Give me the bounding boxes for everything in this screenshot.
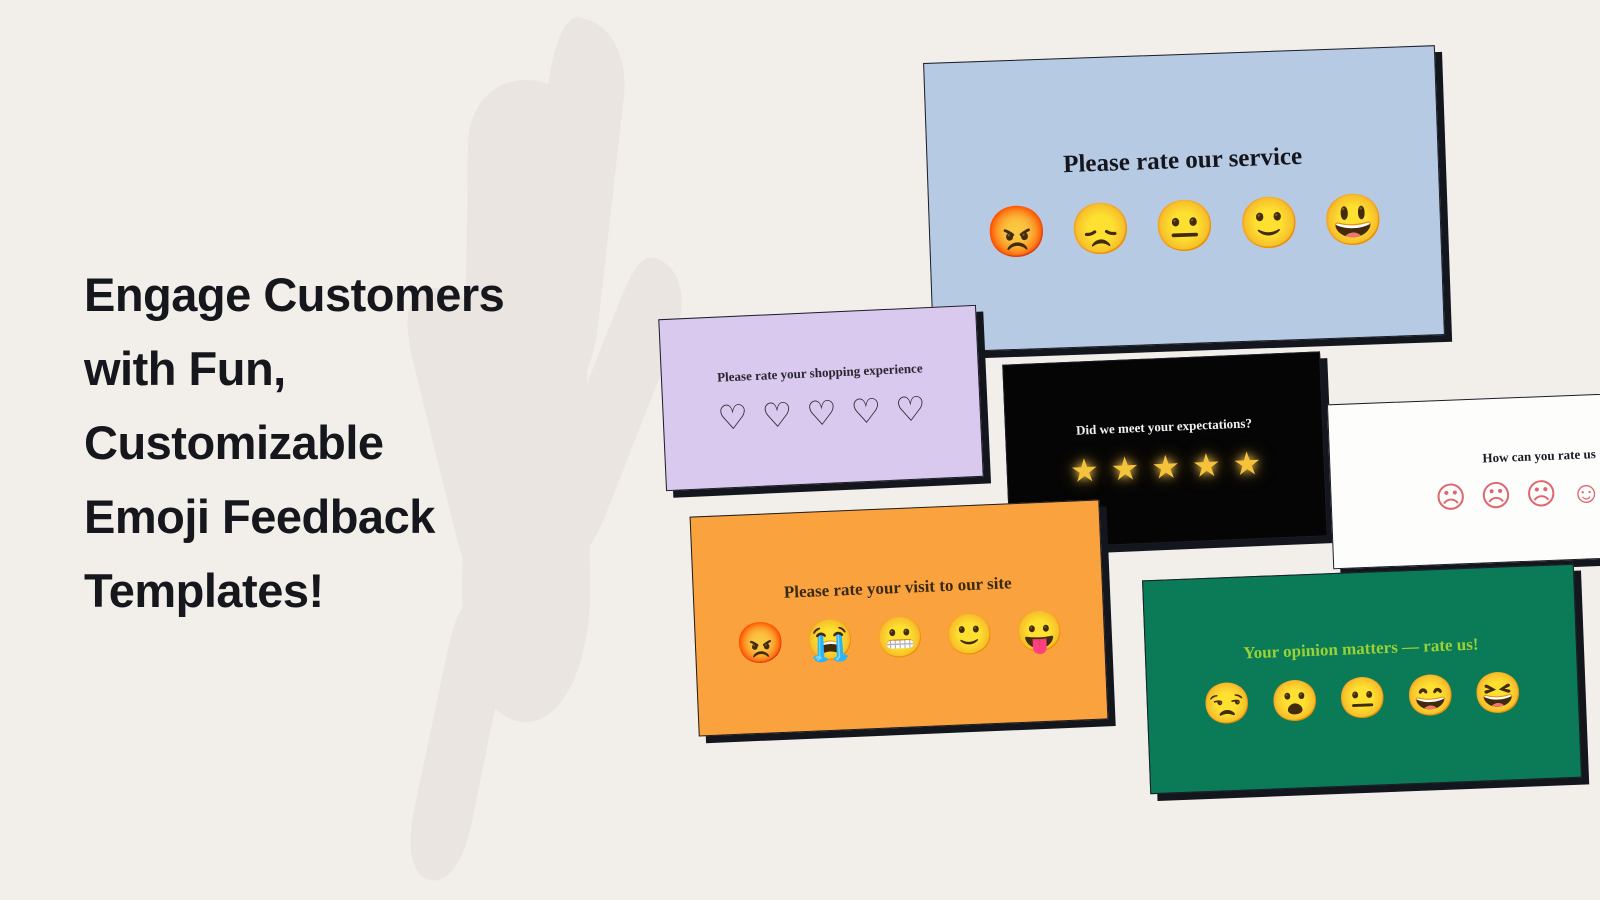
- grinning-face-emoji[interactable]: 😃: [1321, 194, 1385, 246]
- heart-outline-icon[interactable]: ♡: [850, 394, 882, 429]
- rating-card-opinion[interactable]: Your opinion matters — rate us! 😒 😮 😐 😄 …: [1142, 564, 1582, 794]
- headline-line: Customizable: [84, 406, 624, 480]
- rating-scale[interactable]: ☹ ☹ ☹ ☺ ☺: [1435, 476, 1600, 514]
- heart-outline-icon[interactable]: ♡: [895, 392, 927, 427]
- heart-outline-icon[interactable]: ♡: [717, 400, 749, 435]
- smiling-face-outline-icon[interactable]: ☺: [1570, 477, 1600, 508]
- slightly-smiling-face-emoji[interactable]: 🙂: [944, 614, 995, 656]
- rating-scale[interactable]: ♡ ♡ ♡ ♡ ♡: [717, 392, 927, 435]
- page-title: Engage Customers with Fun, Customizable …: [84, 258, 624, 628]
- rating-scale[interactable]: 😡 😞 😐 🙂 😃: [985, 194, 1386, 258]
- angry-face-emoji[interactable]: 😡: [985, 206, 1049, 258]
- card-prompt: Did we meet your expectations?: [1076, 415, 1252, 438]
- star-icon[interactable]: ★: [1232, 446, 1262, 479]
- star-icon[interactable]: ★: [1151, 450, 1181, 483]
- card-prompt: Please rate your visit to our site: [783, 573, 1012, 603]
- unamused-face-emoji[interactable]: 😒: [1202, 683, 1253, 725]
- headline-line: Templates!: [84, 554, 624, 628]
- star-icon[interactable]: ★: [1110, 452, 1140, 485]
- neutral-face-emoji[interactable]: 😐: [1153, 200, 1217, 252]
- rating-card-service[interactable]: Please rate our service 😡 😞 😐 🙂 😃: [923, 45, 1445, 353]
- rating-scale[interactable]: ★ ★ ★ ★ ★: [1069, 446, 1262, 486]
- frowning-face-outline-icon[interactable]: ☹: [1480, 481, 1512, 512]
- frowning-face-outline-icon[interactable]: ☹: [1435, 483, 1467, 514]
- card-prompt: How can you rate us: [1482, 446, 1596, 466]
- crying-face-emoji[interactable]: 😭: [804, 620, 855, 662]
- disappointed-face-emoji[interactable]: 😞: [1069, 203, 1133, 255]
- rating-card-how-rate[interactable]: How can you rate us ☹ ☹ ☹ ☺ ☺: [1327, 392, 1600, 570]
- headline-line: Engage Customers: [84, 258, 624, 332]
- laughing-face-emoji[interactable]: 😆: [1473, 673, 1524, 715]
- grimacing-face-emoji[interactable]: 😬: [874, 617, 925, 659]
- headline-line: Emoji Feedback: [84, 480, 624, 554]
- heart-outline-icon[interactable]: ♡: [761, 398, 793, 433]
- rating-scale[interactable]: 😒 😮 😐 😄 😆: [1202, 673, 1524, 725]
- rating-card-visit[interactable]: Please rate your visit to our site 😡 😭 😬…: [690, 500, 1109, 737]
- open-mouth-face-emoji[interactable]: 😮: [1269, 681, 1320, 723]
- neutral-face-outline-icon[interactable]: ☹: [1525, 479, 1557, 510]
- slightly-smiling-face-emoji[interactable]: 🙂: [1237, 197, 1301, 249]
- promo-banner: Engage Customers with Fun, Customizable …: [0, 0, 1600, 900]
- star-icon[interactable]: ★: [1191, 448, 1221, 481]
- headline-line: with Fun,: [84, 332, 624, 406]
- card-prompt: Please rate our service: [1063, 143, 1303, 179]
- card-prompt: Please rate your shopping experience: [717, 360, 923, 385]
- heart-outline-icon[interactable]: ♡: [806, 396, 838, 431]
- card-prompt: Your opinion matters — rate us!: [1243, 635, 1479, 664]
- rating-card-shopping[interactable]: Please rate your shopping experience ♡ ♡…: [658, 305, 983, 491]
- tongue-out-face-emoji[interactable]: 😛: [1014, 611, 1065, 653]
- smiling-face-emoji[interactable]: 😄: [1405, 675, 1456, 717]
- star-icon[interactable]: ★: [1069, 453, 1099, 486]
- neutral-face-emoji[interactable]: 😐: [1337, 678, 1388, 720]
- angry-face-emoji[interactable]: 😡: [735, 623, 786, 665]
- rating-scale[interactable]: 😡 😭 😬 🙂 😛: [735, 611, 1065, 665]
